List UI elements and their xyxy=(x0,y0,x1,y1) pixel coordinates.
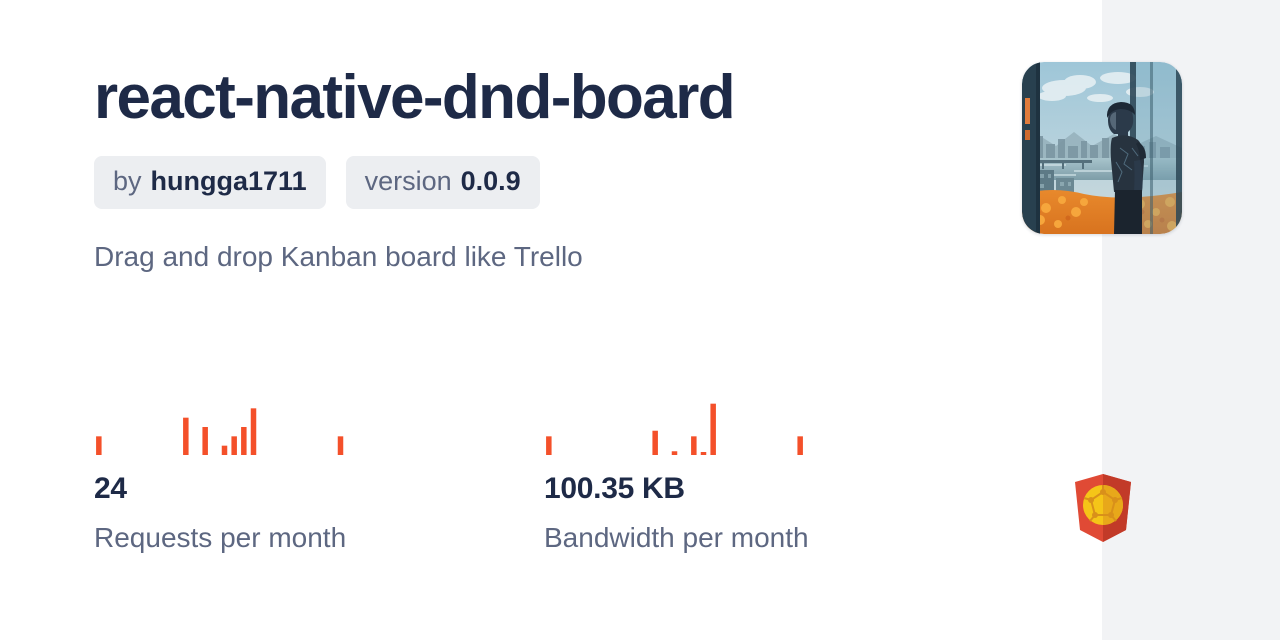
version-badge-value: 0.0.9 xyxy=(461,165,521,198)
sparkline-bar xyxy=(96,436,102,455)
sparkline-bar xyxy=(231,436,237,455)
avatar xyxy=(1022,62,1182,234)
sparkline-bar xyxy=(202,427,208,455)
bandwidth-sparkline-chart xyxy=(544,395,834,455)
version-badge-prefix: version xyxy=(365,165,452,198)
requests-sparkline-chart xyxy=(94,395,384,455)
author-avatar-illustration xyxy=(1022,62,1182,234)
sparkline-bar xyxy=(183,418,189,455)
package-meta-badges: by hungga1711 version 0.0.9 xyxy=(94,156,994,209)
sparkline-bar xyxy=(241,427,247,455)
sparkline-bar xyxy=(546,436,552,455)
bandwidth-value: 100.35 KB xyxy=(544,471,994,507)
sparkline-bar xyxy=(710,404,716,455)
author-badge-value: hungga1711 xyxy=(151,165,307,198)
sparkline-bar xyxy=(701,452,707,455)
package-description: Drag and drop Kanban board like Trello xyxy=(94,240,994,274)
requests-value: 24 xyxy=(94,471,544,507)
author-badge[interactable]: by hungga1711 xyxy=(94,156,326,209)
sparkline-bar xyxy=(338,436,344,455)
requests-label: Requests per month xyxy=(94,521,544,555)
stat-requests-per-month: 24 Requests per month xyxy=(94,395,544,555)
package-info-card: react-native-dnd-board by hungga1711 ver… xyxy=(0,0,1280,640)
version-badge[interactable]: version 0.0.9 xyxy=(346,156,540,209)
sparkline-bar xyxy=(251,408,257,455)
sparkline-bar xyxy=(652,431,658,455)
sparkline-bar xyxy=(672,451,678,455)
sparkline-bar xyxy=(691,436,697,455)
stat-bandwidth-per-month: 100.35 KB Bandwidth per month xyxy=(544,395,994,555)
jsdelivr-logo xyxy=(1069,472,1137,544)
page-title: react-native-dnd-board xyxy=(94,62,994,134)
bandwidth-label: Bandwidth per month xyxy=(544,521,994,555)
stats-row: 24 Requests per month 100.35 KB Bandwidt… xyxy=(94,395,994,555)
sparkline-bar xyxy=(797,436,803,455)
sparkline-bar xyxy=(222,446,228,455)
author-badge-prefix: by xyxy=(113,165,142,198)
package-header: react-native-dnd-board by hungga1711 ver… xyxy=(94,62,994,274)
